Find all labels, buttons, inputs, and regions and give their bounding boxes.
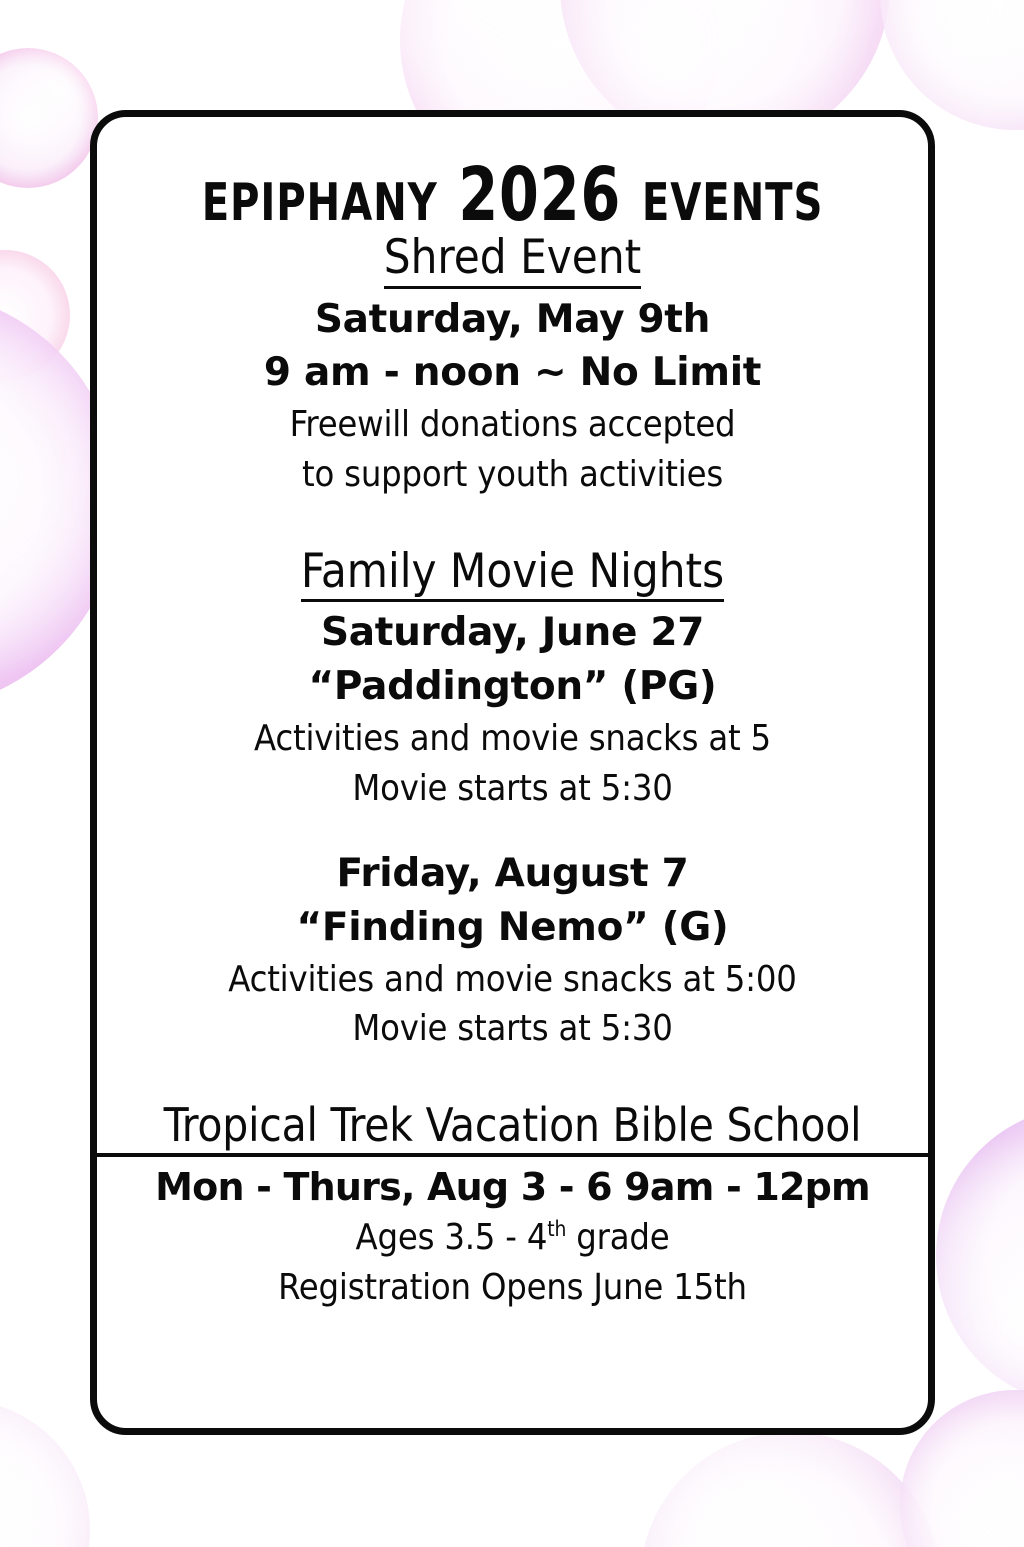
bubble-icon-top-left [0, 48, 98, 188]
vbs-ages-after: grade [566, 1217, 669, 1258]
nemo-detail-1: Activities and movie snacks at 5:00 [90, 955, 935, 1005]
nemo-title-line: “Finding Nemo” (G) [90, 901, 935, 955]
section-heading-vacation-bible-school: Tropical Trek Vacation Bible School [94, 1100, 931, 1157]
movie-event-finding-nemo: Friday, August 7 “Finding Nemo” (G) Acti… [90, 847, 935, 1054]
section-shred-event: Shred Event Saturday, May 9th 9 am - noo… [90, 232, 935, 500]
nemo-detail-2: Movie starts at 5:30 [90, 1004, 935, 1054]
paddington-date-line: Saturday, June 27 [90, 606, 935, 660]
shred-detail-2: to support youth activities [90, 450, 935, 500]
vbs-registration-line: Registration Opens June 15th [90, 1263, 935, 1313]
section-heading-wrapper: Tropical Trek Vacation Bible School [90, 1100, 935, 1157]
shred-time-line: 9 am - noon ~ No Limit [90, 346, 935, 400]
poster-content: Epiphany 2026 events Shred Event Saturda… [90, 110, 935, 1435]
section-heading-family-movie-nights: Family Movie Nights [301, 546, 724, 603]
section-heading-wrapper: Family Movie Nights [90, 546, 935, 603]
movie-event-paddington: Saturday, June 27 “Paddington” (PG) Acti… [90, 606, 935, 813]
section-heading-shred-event: Shred Event [384, 232, 641, 289]
shred-date-line: Saturday, May 9th [90, 293, 935, 347]
section-vacation-bible-school: Tropical Trek Vacation Bible School Mon … [90, 1100, 935, 1312]
bubble-icon-bottom-center [640, 1432, 940, 1547]
section-spacer-1 [90, 500, 935, 546]
movie-event-spacer [90, 813, 935, 847]
paddington-detail-1: Activities and movie snacks at 5 [90, 714, 935, 764]
bubble-icon-left-upper [0, 250, 70, 380]
section-heading-wrapper: Shred Event [90, 232, 935, 289]
shred-detail-1: Freewill donations accepted [90, 400, 935, 450]
vbs-schedule-line: Mon - Thurs, Aug 3 - 6 9am - 12pm [90, 1161, 935, 1213]
section-spacer-2 [90, 1054, 935, 1100]
page-title: Epiphany 2026 events [149, 158, 876, 232]
vbs-ages-ordinal-suffix: th [547, 1217, 566, 1241]
poster-root: Epiphany 2026 events Shred Event Saturda… [0, 0, 1024, 1547]
paddington-title-line: “Paddington” (PG) [90, 660, 935, 714]
vbs-ages-line: Ages 3.5 - 4th grade [90, 1213, 935, 1263]
bubble-icon-bottom-left [0, 1400, 90, 1547]
paddington-detail-2: Movie starts at 5:30 [90, 764, 935, 814]
nemo-date-line: Friday, August 7 [90, 847, 935, 901]
section-family-movie-nights: Family Movie Nights Saturday, June 27 “P… [90, 546, 935, 1055]
bubble-icon-right-middle [936, 1106, 1024, 1406]
vbs-ages-before: Ages 3.5 - 4 [356, 1217, 548, 1258]
